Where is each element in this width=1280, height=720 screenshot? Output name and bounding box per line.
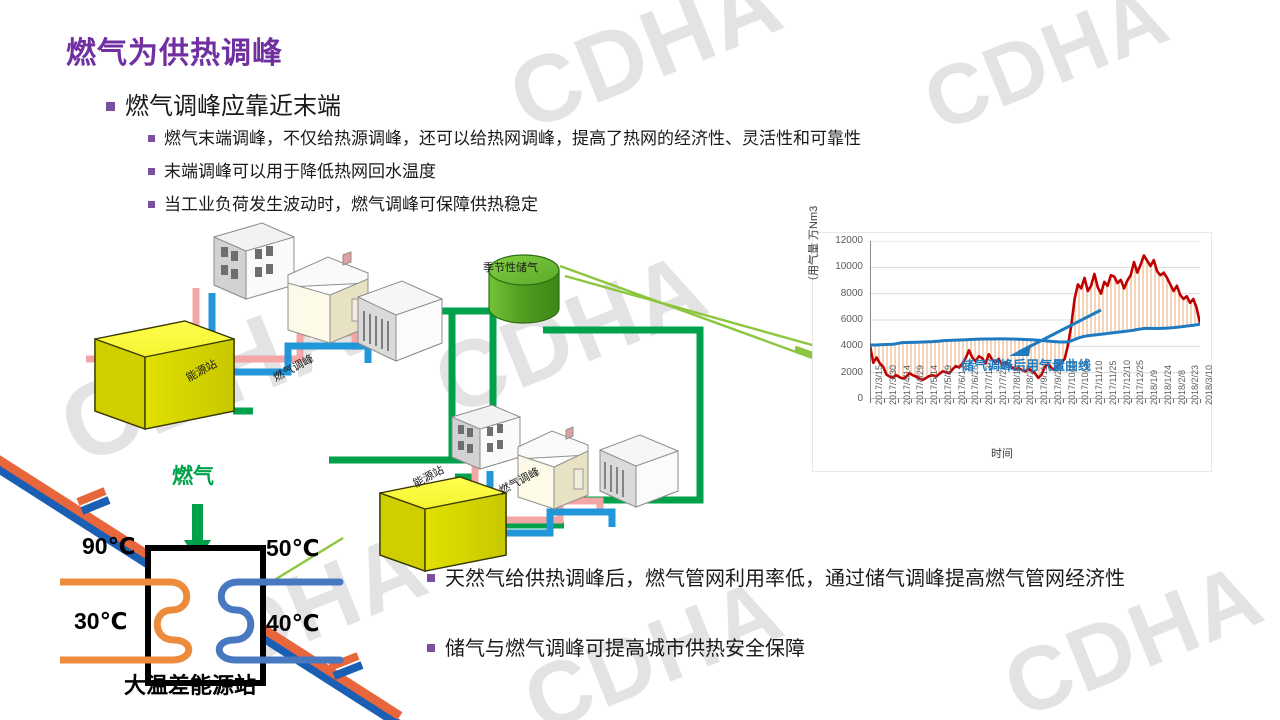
chart-x-tick-label: 2018/3/10 (1204, 365, 1214, 405)
bullet-level2-label: 当工业负荷发生波动时，燃气调峰可保障供热稳定 (164, 195, 538, 214)
chart-x-tick-mark (1063, 399, 1064, 403)
chart-x-tick-label: 2018/1/9 (1149, 370, 1159, 405)
chart-x-tick-mark (1186, 399, 1187, 403)
watermark: CDHA (911, 0, 1183, 152)
chart-y-tick-label: 8000 (823, 288, 863, 299)
bullet-level2-label: 末端调峰可以用于降低热网回水温度 (164, 162, 436, 181)
chart-x-tick-mark (1021, 399, 1022, 403)
gas-consumption-chart: （用气量 万Nm3 020004000600080001000012000 20… (812, 232, 1212, 472)
temp-supply-out: 50℃ (266, 535, 319, 562)
bullet-marker-icon (148, 201, 155, 208)
chart-x-tick-mark (1173, 399, 1174, 403)
chart-x-tick-label: 2017/12/25 (1135, 360, 1145, 405)
slide-canvas: CDHA CDHA CDHA CDHA CDHA CDHA CDHA CDHA … (0, 0, 1280, 720)
chart-x-tick-mark (1200, 399, 1201, 403)
chart-annotation-arrow (993, 308, 1113, 363)
bullet-marker-icon (148, 168, 155, 175)
chart-x-tick-mark (1104, 399, 1105, 403)
chart-y-tick-label: 10000 (823, 261, 863, 272)
chart-x-tick-mark (980, 399, 981, 403)
chart-x-tick-label: 2017/3/30 (888, 365, 898, 405)
chart-x-tick-mark (898, 399, 899, 403)
apartment-building-icon-right (452, 405, 520, 469)
chart-x-tick-label: 2017/4/29 (915, 365, 925, 405)
chart-x-tick-mark (1035, 399, 1036, 403)
chart-x-tick-label: 2017/3/15 (874, 365, 884, 405)
chart-x-tick-mark (1118, 399, 1119, 403)
factory-icon-right (600, 435, 678, 507)
chart-x-tick-label: 2017/12/10 (1122, 360, 1132, 405)
chart-x-tick-mark (939, 399, 940, 403)
factory-icon (358, 281, 442, 361)
chart-x-tick-mark (911, 399, 912, 403)
chart-x-tick-label: 2017/11/25 (1108, 361, 1118, 405)
station-caption: 大温差能源站 (124, 668, 256, 700)
bullet-level2-label: 燃气末端调峰，不仅给热源调峰，还可以给热网调峰，提高了热网的经济性、灵活性和可靠… (164, 129, 861, 148)
chart-y-tick-label: 2000 (823, 367, 863, 378)
bullet-marker-icon (148, 135, 155, 142)
chart-x-tick-mark (1049, 399, 1050, 403)
bullet-level2: 末端调峰可以用于降低热网回水温度 (148, 159, 436, 184)
chart-x-tick-label: 2018/1/24 (1163, 365, 1173, 405)
chart-y-tick-label: 12000 (823, 235, 863, 246)
chart-x-tick-label: 2017/5/29 (943, 365, 953, 405)
chart-y-tick-label: 4000 (823, 340, 863, 351)
bullet-level2: 燃气末端调峰，不仅给热源调峰，还可以给热网调峰，提高了热网的经济性、灵活性和可靠… (148, 126, 861, 151)
seasonal-storage-label: 季节性储气 (483, 259, 538, 275)
bullet-level1-label: 燃气调峰应靠近末端 (125, 93, 341, 120)
bullet-level1: 燃气调峰应靠近末端 (106, 86, 341, 121)
chart-x-tick-label: 2017/4/14 (902, 365, 912, 405)
gas-inlet-label: 燃气 (172, 460, 214, 490)
chart-y-tick-label: 6000 (823, 314, 863, 325)
energy-station-box-left (95, 321, 234, 429)
chart-x-tick-label: 2018/2/23 (1190, 365, 1200, 405)
chart-y-axis-label: （用气量 万Nm3 (805, 147, 821, 287)
chart-x-tick-label: 2018/2/8 (1177, 370, 1187, 405)
chart-x-tick-mark (870, 399, 871, 403)
chart-x-tick-label: 2017/5/14 (929, 365, 939, 405)
bullet-marker-icon (106, 102, 115, 111)
bullet-level2: 当工业负荷发生波动时，燃气调峰可保障供热稳定 (148, 192, 538, 217)
temp-return-out: 40℃ (266, 610, 319, 637)
chart-x-axis-label: 时间 (991, 445, 1013, 461)
temp-return-in: 30℃ (74, 608, 127, 635)
temp-supply-in: 90℃ (82, 533, 135, 560)
chart-x-tick-mark (1145, 399, 1146, 403)
chart-x-tick-mark (1131, 399, 1132, 403)
chart-x-tick-mark (884, 399, 885, 403)
chart-x-tick-mark (966, 399, 967, 403)
chart-x-tick-mark (1159, 399, 1160, 403)
callout-arrow-to-chart (560, 260, 820, 370)
chart-x-tick-mark (994, 399, 995, 403)
chart-x-tick-mark (925, 399, 926, 403)
chart-x-tick-mark (1008, 399, 1009, 403)
chart-x-tick-mark (1076, 399, 1077, 403)
chart-y-tick-label: 0 (823, 393, 863, 404)
chart-x-tick-mark (953, 399, 954, 403)
page-title: 燃气为供热调峰 (66, 28, 283, 72)
chart-x-tick-mark (1090, 399, 1091, 403)
house-icon (288, 252, 368, 343)
apartment-building-icon (214, 223, 294, 299)
chart-x-tick-label: 2017/11/10 (1094, 361, 1104, 405)
